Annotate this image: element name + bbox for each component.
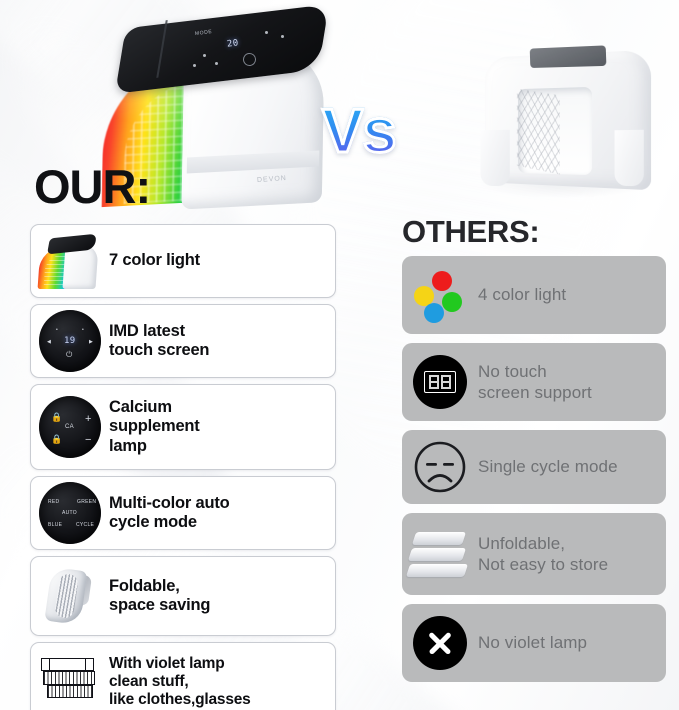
green-dot bbox=[442, 292, 462, 312]
our-feature-list: 7 color light 19 ◀ ▶ • • ⏻ IMD latest to… bbox=[30, 224, 336, 710]
our-feature-row[interactable]: RED GREEN BLUE CYCLE AUTO Multi-color au… bbox=[30, 476, 336, 550]
our-feature-row[interactable]: Foldable, space saving bbox=[30, 556, 336, 636]
our-feature-row[interactable]: 7 color light bbox=[30, 224, 336, 298]
our-feature-row[interactable]: With violet lamp clean stuff, like cloth… bbox=[30, 642, 336, 710]
rainbow-dome-icon bbox=[31, 225, 109, 297]
panel-dot bbox=[193, 64, 196, 67]
competitor-product-image bbox=[470, 38, 660, 203]
other-feature-label: 4 color light bbox=[478, 284, 574, 305]
versus-label: Vs bbox=[322, 92, 430, 172]
competitor-top-panel bbox=[530, 45, 607, 68]
other-feature-row[interactable]: Unfoldable, Not easy to store bbox=[402, 513, 666, 595]
our-feature-row[interactable]: 🔒 🔒 + − CA Calcium supplement lamp bbox=[30, 384, 336, 470]
other-feature-row[interactable]: 4 color light bbox=[402, 256, 666, 334]
sad-face-icon bbox=[402, 439, 478, 495]
panel-mode-bl: BLUE bbox=[48, 522, 62, 528]
other-feature-label: No violet lamp bbox=[478, 632, 595, 653]
our-feature-label: With violet lamp clean stuff, like cloth… bbox=[109, 651, 257, 710]
panel-mode-tr: GREEN bbox=[77, 499, 96, 505]
cycle-panel-icon: RED GREEN BLUE CYCLE AUTO bbox=[31, 477, 109, 549]
calcium-panel-icon: 🔒 🔒 + − CA bbox=[31, 385, 109, 469]
stacked-plates-icon bbox=[402, 526, 478, 582]
panel-mode-center: AUTO bbox=[62, 510, 77, 516]
panel-mode-br: CYCLE bbox=[76, 522, 94, 528]
competitor-leg bbox=[481, 130, 510, 187]
red-dot bbox=[432, 271, 452, 291]
blue-dot bbox=[424, 303, 444, 323]
infographic-canvas: DEVON MODE 20 Vs OUR: OTHERS: bbox=[0, 0, 679, 710]
other-feature-row[interactable]: Single cycle mode bbox=[402, 430, 666, 504]
other-feature-label: Unfoldable, Not easy to store bbox=[478, 533, 616, 576]
power-glyph: ⏻ bbox=[66, 350, 73, 360]
x-circle-icon bbox=[402, 616, 478, 670]
panel-dot bbox=[215, 62, 218, 65]
our-feature-label: Multi-color auto cycle mode bbox=[109, 490, 236, 537]
panel-dot bbox=[265, 31, 268, 34]
our-feature-label: IMD latest touch screen bbox=[109, 318, 215, 365]
competitor-led-mesh bbox=[517, 89, 560, 175]
other-feature-row[interactable]: No violet lamp bbox=[402, 604, 666, 682]
our-feature-row[interactable]: 19 ◀ ▶ • • ⏻ IMD latest touch screen bbox=[30, 304, 336, 378]
other-feature-row[interactable]: No touch screen support bbox=[402, 343, 666, 421]
panel-display: 19 bbox=[64, 336, 75, 346]
panel-mode-tl: RED bbox=[48, 499, 59, 505]
versus-badge: Vs bbox=[322, 92, 430, 172]
our-feature-label: Calcium supplement lamp bbox=[109, 394, 206, 460]
other-feature-label: No touch screen support bbox=[478, 361, 600, 404]
our-feature-label: Foldable, space saving bbox=[109, 573, 216, 620]
seven-segment-display-icon bbox=[402, 355, 478, 409]
others-feature-list: 4 color light No touch screen support Si… bbox=[402, 256, 666, 691]
panel-dot bbox=[281, 35, 284, 38]
touch-panel-icon: 19 ◀ ▶ • • ⏻ bbox=[31, 305, 109, 377]
panel-center-label: CA bbox=[65, 424, 74, 430]
foldable-device-icon bbox=[31, 557, 109, 635]
competitor-leg bbox=[615, 130, 644, 187]
four-color-dots-icon bbox=[402, 267, 478, 323]
others-heading: OTHERS: bbox=[402, 216, 539, 247]
panel-dot bbox=[203, 54, 206, 57]
other-feature-label: Single cycle mode bbox=[478, 456, 626, 477]
our-feature-label: 7 color light bbox=[109, 247, 206, 274]
our-heading: OUR: bbox=[34, 163, 150, 210]
violet-sterilizer-icon bbox=[31, 643, 109, 710]
panel-timer-display: 20 bbox=[226, 38, 239, 49]
